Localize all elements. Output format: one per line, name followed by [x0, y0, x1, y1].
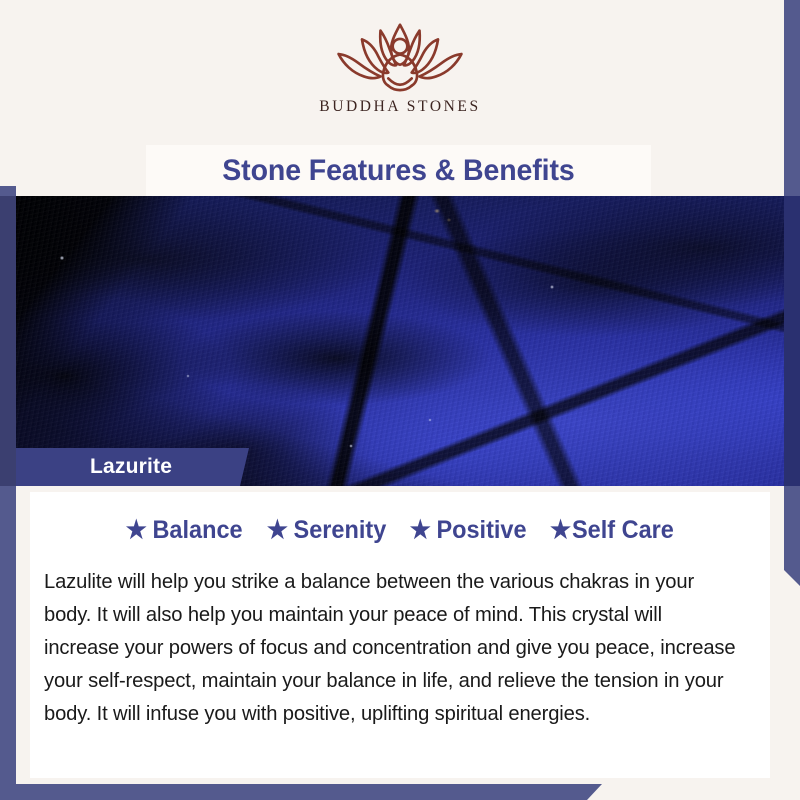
brand-wordmark: BUDDHA STONES — [319, 98, 480, 116]
stone-name-banner: Lazurite — [16, 448, 249, 486]
keyword-label: Positive — [436, 518, 526, 543]
keyword-positive: ★ Positive — [409, 518, 526, 543]
star-icon: ★ — [266, 518, 287, 543]
keyword-self-care: ★ Self Care — [550, 518, 674, 543]
header-section: BUDDHA STONES Stone Features & Benefits — [16, 0, 784, 196]
brand-logo: BUDDHA STONES — [16, 16, 784, 116]
keyword-label: Serenity — [293, 518, 386, 543]
keyword-label: Self Care — [572, 518, 674, 543]
title-band: Stone Features & Benefits — [146, 145, 651, 196]
star-icon: ★ — [126, 518, 147, 543]
keyword-row: ★ Balance ★ Serenity ★ Positive ★ Self C… — [30, 518, 770, 543]
photo-right-edge-band — [784, 196, 800, 486]
page-title: Stone Features & Benefits — [222, 154, 574, 188]
stone-photo-speck-highlights — [0, 196, 800, 486]
star-icon: ★ — [550, 518, 571, 543]
keyword-serenity: ★ Serenity — [266, 518, 385, 543]
stone-name-label: Lazurite — [90, 455, 172, 479]
stone-description: Lazulite will help you strike a balance … — [44, 565, 739, 730]
keyword-label: Balance — [153, 518, 243, 543]
body-panel-inner: ★ Balance ★ Serenity ★ Positive ★ Self C… — [30, 492, 770, 778]
keyword-balance: ★ Balance — [126, 518, 243, 543]
photo-left-edge-band — [0, 196, 16, 486]
infographic-card: BUDDHA STONES Stone Features & Benefits … — [0, 0, 800, 800]
star-icon: ★ — [409, 518, 430, 543]
lotus-meditating-figure-icon — [315, 16, 485, 94]
body-panel: ★ Balance ★ Serenity ★ Positive ★ Self C… — [16, 486, 784, 784]
bottom-accent-band — [0, 784, 602, 800]
stone-photo — [0, 196, 800, 486]
